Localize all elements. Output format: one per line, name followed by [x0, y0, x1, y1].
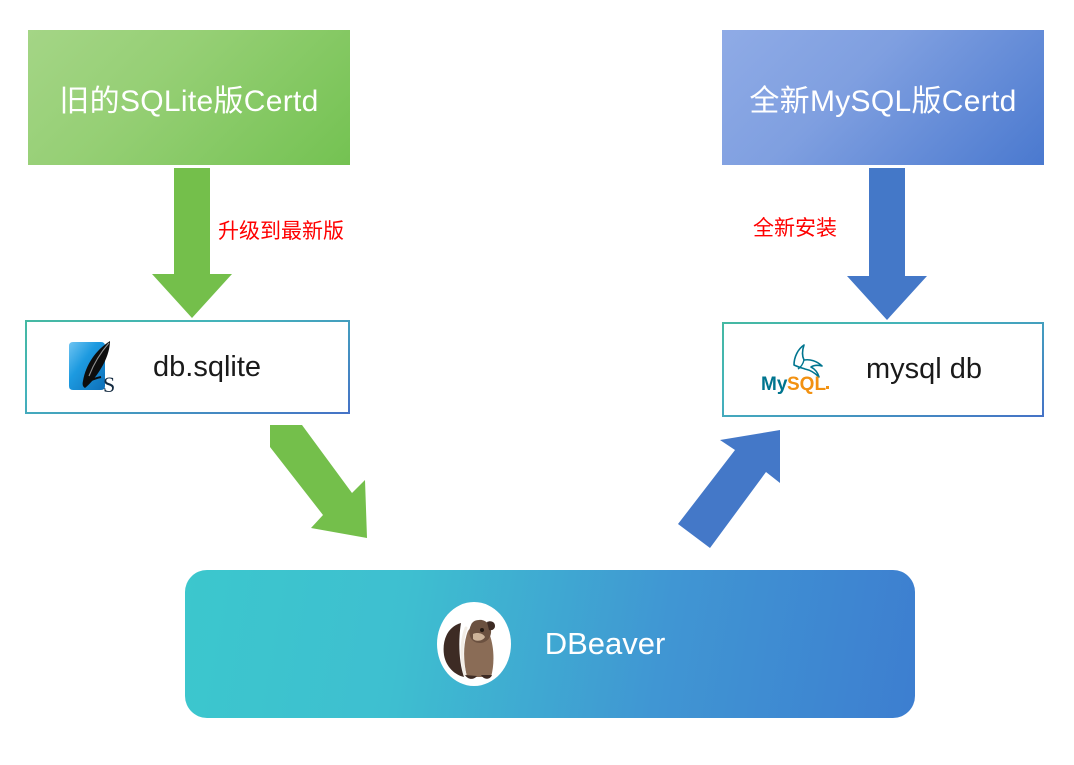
- new-certd-box: 全新MySQL版Certd: [722, 30, 1044, 165]
- dbeaver-box: DBeaver: [185, 570, 915, 718]
- old-certd-box: 旧的SQLite版Certd: [28, 30, 350, 165]
- diagram-canvas: 旧的SQLite版Certd 全新MySQL版Certd 升级到最新版 全新安装: [0, 0, 1074, 765]
- mysql-logo-icon: My SQL: [760, 341, 838, 399]
- mysql-logo-my-text: My: [761, 374, 788, 395]
- mysql-db-box: My SQL mysql db: [722, 322, 1044, 417]
- mysql-db-label: mysql db: [866, 353, 982, 386]
- fresh-install-arrow-caption: 全新安装: [753, 212, 837, 242]
- new-certd-label: 全新MySQL版Certd: [749, 76, 1016, 120]
- sqlite-to-dbeaver-arrow-icon: [248, 425, 383, 545]
- sqlite-db-label: db.sqlite: [153, 351, 261, 384]
- old-certd-label: 旧的SQLite版Certd: [59, 76, 318, 120]
- sqlite-logo-icon: S: [63, 336, 125, 398]
- fresh-install-down-arrow-icon: [843, 168, 933, 320]
- sqlite-db-box: S db.sqlite: [25, 320, 350, 414]
- dbeaver-to-mysql-arrow-icon: [648, 428, 788, 553]
- upgrade-arrow-caption: 升级到最新版: [218, 215, 344, 245]
- svg-text:S: S: [103, 372, 115, 397]
- dbeaver-logo-icon: [435, 601, 513, 687]
- dbeaver-label: DBeaver: [545, 626, 666, 662]
- mysql-logo-sql-text: SQL: [787, 374, 826, 395]
